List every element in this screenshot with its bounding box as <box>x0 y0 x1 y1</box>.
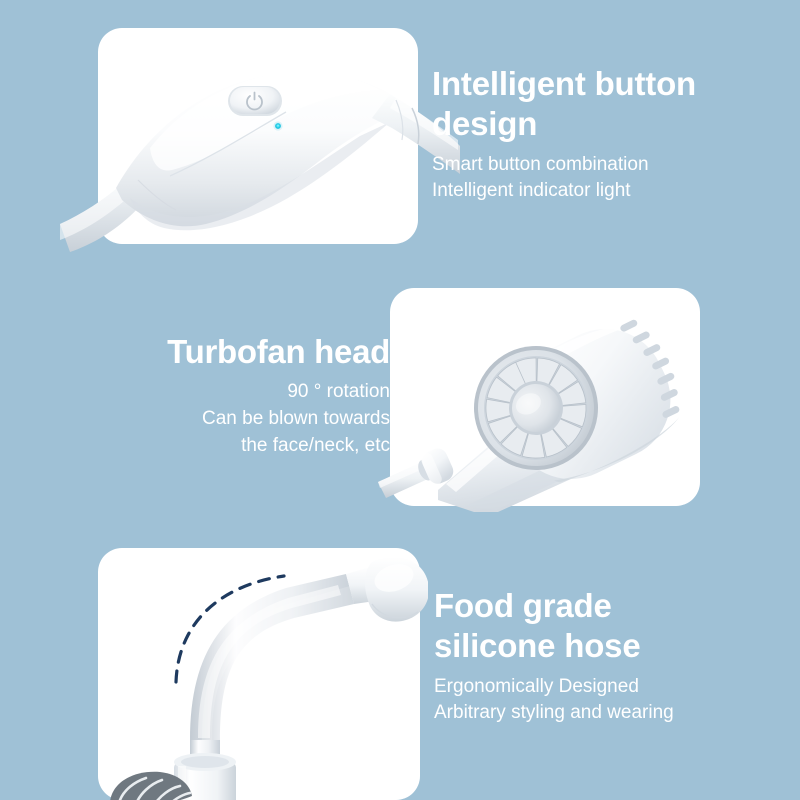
feature-headline: Turbofan head <box>110 332 390 372</box>
feature-panel-food-grade-silicone-hose <box>98 548 420 800</box>
feature-headline: Food grade silicone hose <box>434 586 774 667</box>
feature-text-food-grade-silicone-hose: Food grade silicone hose Ergonomically D… <box>434 586 774 727</box>
infographic-canvas: Intelligent button design Smart button c… <box>0 0 800 800</box>
feature-subline: 90 ° rotation Can be blown towards the f… <box>110 379 390 460</box>
feature-headline: Intelligent button design <box>432 64 762 145</box>
feature-subline: Ergonomically Designed Arbitrary styling… <box>434 674 774 728</box>
feature-text-intelligent-button-design: Intelligent button design Smart button c… <box>432 64 762 205</box>
feature-panel-intelligent-button-design <box>98 28 418 244</box>
feature-panel-turbofan-head <box>390 288 700 506</box>
feature-subline: Smart button combination Intelligent ind… <box>432 152 762 206</box>
feature-text-turbofan-head: Turbofan head 90 ° rotation Can be blown… <box>110 332 390 460</box>
